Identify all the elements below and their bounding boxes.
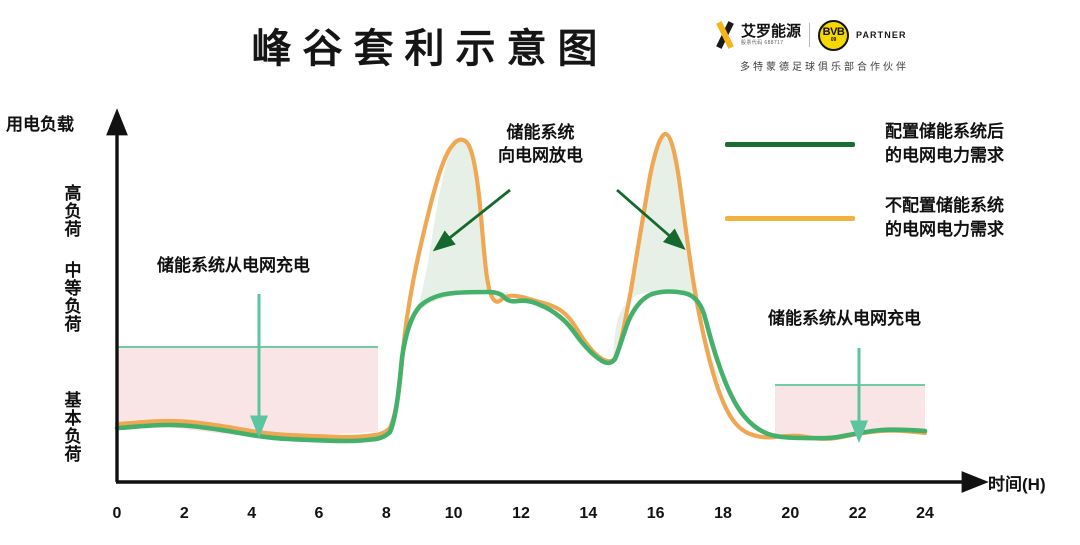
x-tick-16: 16	[641, 505, 671, 523]
legend-label-line2: 的电网电力需求	[885, 218, 1004, 242]
legend-label-with-storage: 配置储能系统后 的电网电力需求	[885, 120, 1004, 168]
x-tick-8: 8	[371, 505, 401, 523]
annotation-charge-right: 储能系统从电网充电	[768, 308, 921, 331]
x-tick-18: 18	[708, 505, 738, 523]
x-tick-2: 2	[169, 505, 199, 523]
annotation-discharge-line2: 向电网放电	[498, 145, 583, 168]
legend-label-no-storage: 不配置储能系统 的电网电力需求	[885, 194, 1004, 242]
x-tick-20: 20	[775, 505, 805, 523]
x-tick-6: 6	[304, 505, 334, 523]
y-axis-title: 用电负载	[6, 110, 74, 135]
legend-swatch-green	[725, 142, 855, 147]
discharge-area-peak1	[401, 139, 508, 350]
annotation-discharge-line1: 储能系统	[498, 122, 583, 145]
chart-page: 峰谷套利示意图 艾罗能源 股票代码 688717 BVB 09 PARTNER …	[0, 0, 1080, 545]
y-band-base: 基本负荷	[62, 392, 84, 464]
chart-legend: 配置储能系统后 的电网电力需求 不配置储能系统 的电网电力需求	[725, 120, 1070, 269]
x-tick-22: 22	[843, 505, 873, 523]
annotation-charge-left: 储能系统从电网充电	[157, 255, 310, 278]
x-tick-4: 4	[237, 505, 267, 523]
y-band-medium: 中等负荷	[62, 262, 84, 334]
legend-swatch-orange	[725, 216, 855, 221]
legend-item-no-storage: 不配置储能系统 的电网电力需求	[725, 194, 1070, 242]
x-tick-14: 14	[573, 505, 603, 523]
x-tick-0: 0	[102, 505, 132, 523]
y-band-high: 高负荷	[62, 185, 84, 239]
legend-label-line2: 的电网电力需求	[885, 144, 1004, 168]
legend-label-line1: 不配置储能系统	[885, 194, 1004, 218]
legend-label-line1: 配置储能系统后	[885, 120, 1004, 144]
x-tick-10: 10	[439, 505, 469, 523]
x-tick-24: 24	[910, 505, 940, 523]
x-axis-title: 时间(H)	[988, 470, 1046, 495]
annotation-discharge: 储能系统 向电网放电	[498, 122, 583, 168]
x-tick-12: 12	[506, 505, 536, 523]
legend-item-with-storage: 配置储能系统后 的电网电力需求	[725, 120, 1070, 168]
